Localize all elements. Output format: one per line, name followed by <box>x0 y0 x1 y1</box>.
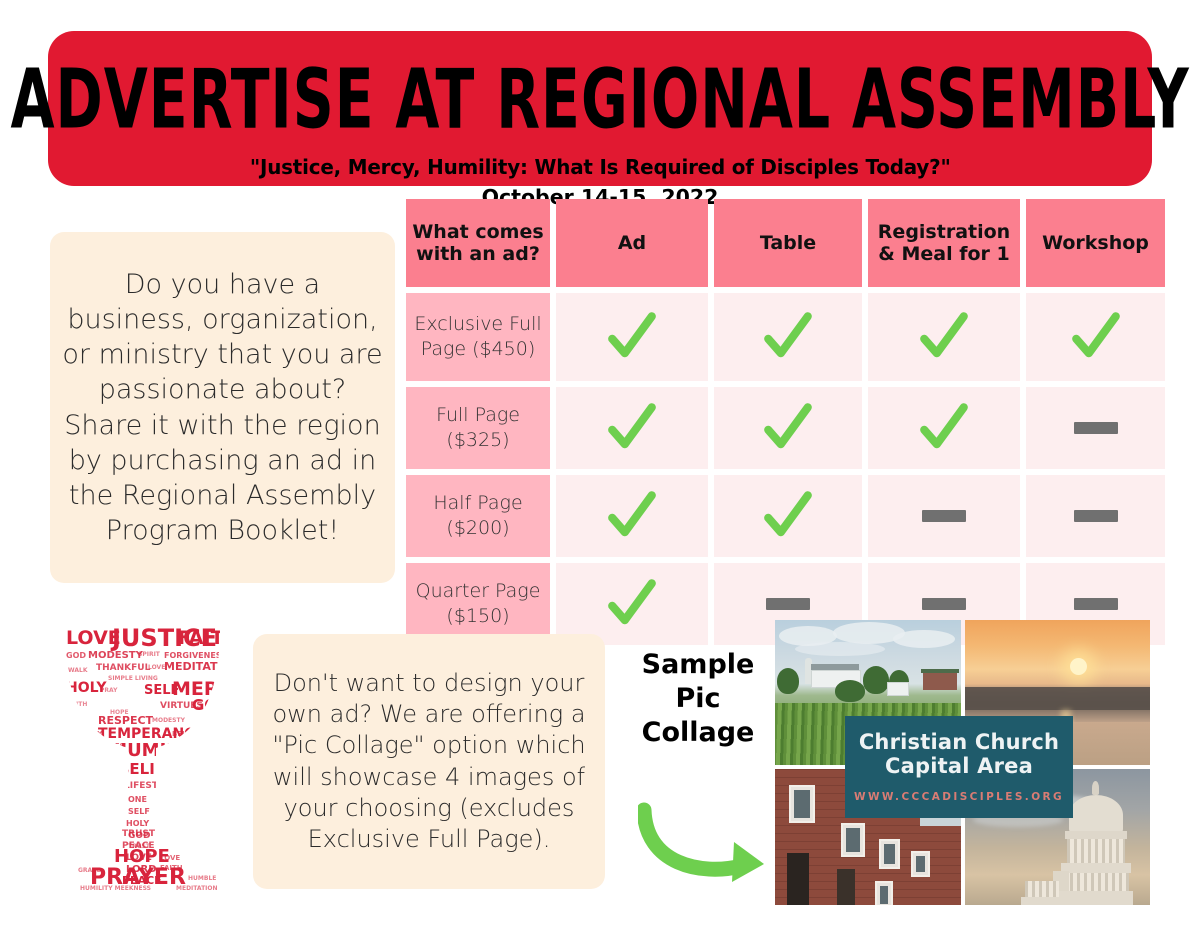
svg-text:MODESTY: MODESTY <box>152 717 186 724</box>
check-icon <box>761 489 815 543</box>
dash-icon <box>922 510 966 522</box>
svg-text:SELF: SELF <box>128 807 150 816</box>
dash-icon <box>922 598 966 610</box>
table-cell-exclusive-ad <box>556 293 708 381</box>
sample-pic-collage-label: Sample Pic Collage <box>628 648 768 750</box>
svg-text:THANKFUL: THANKFUL <box>96 663 151 673</box>
table-cell-exclusive-registration <box>868 293 1020 381</box>
poster-canvas: ADVERTISE AT REGIONAL ASSEMBLY "Justice,… <box>0 0 1200 927</box>
sample-label-line1: Sample <box>628 648 768 682</box>
svg-text:KINDNESS: KINDNESS <box>192 740 232 748</box>
svg-text:WALK: WALK <box>88 762 111 770</box>
table-header-registration-meal: Registration & Meal for 1 <box>868 199 1020 287</box>
svg-text:CCCA: CCCA <box>188 747 215 757</box>
curved-arrow-icon <box>638 780 773 885</box>
svg-text:MEDITATION: MEDITATION <box>176 885 218 892</box>
svg-text:BELIEVE: BELIEVE <box>118 760 187 778</box>
svg-text:HUMILITY: HUMILITY <box>112 740 211 761</box>
svg-text:BELIEVE: BELIEVE <box>172 730 204 738</box>
svg-text:PRAY: PRAY <box>100 687 118 694</box>
pic-collage-note-text: Don't want to design your own ad? We are… <box>265 668 593 855</box>
check-icon <box>761 401 815 455</box>
svg-text:FAITH: FAITH <box>68 701 87 708</box>
check-icon <box>605 310 659 364</box>
check-icon <box>1069 310 1123 364</box>
table-cell-half-ad <box>556 475 708 557</box>
dash-icon <box>1074 510 1118 522</box>
svg-text:GOD: GOD <box>192 696 230 714</box>
table-row-label-quarter-page: Quarter Page ($150) <box>406 563 550 645</box>
check-icon <box>605 489 659 543</box>
dash-icon <box>766 598 810 610</box>
table-header-workshop: Workshop <box>1026 199 1165 287</box>
chalice-icon: LOVE JUSTICE FAITH GOD MODESTY SPIRIT FO… <box>52 622 232 894</box>
check-icon <box>761 310 815 364</box>
sample-collage-image: Christian Church Capital Area WWW.CCCADI… <box>775 620 1150 905</box>
table-cell-full-table <box>714 387 862 469</box>
table-row-label-half-page: Half Page ($200) <box>406 475 550 557</box>
svg-text:HOLY: HOLY <box>126 819 149 828</box>
table-cell-full-ad <box>556 387 708 469</box>
banner-subtitle: "Justice, Mercy, Humility: What Is Requi… <box>250 155 951 179</box>
svg-text:GRACE: GRACE <box>78 867 101 874</box>
svg-text:ONE: ONE <box>128 795 147 804</box>
svg-text:MEDITATION: MEDITATION <box>164 660 232 673</box>
svg-text:GOD: GOD <box>66 651 86 660</box>
chalice-wordcloud-image: LOVE JUSTICE FAITH GOD MODESTY SPIRIT FO… <box>52 622 232 894</box>
svg-text:LOVE: LOVE <box>148 664 165 671</box>
intro-text: Do you have a business, organization, or… <box>60 267 385 548</box>
header-banner: ADVERTISE AT REGIONAL ASSEMBLY "Justice,… <box>48 31 1152 186</box>
table-cell-quarter-ad <box>556 563 708 645</box>
svg-text:LORD: LORD <box>212 683 230 690</box>
table-cell-exclusive-workshop <box>1026 293 1165 381</box>
collage-overlay-card: Christian Church Capital Area WWW.CCCADI… <box>845 716 1073 818</box>
table-header-what-comes-with-an-ad: What comes with an ad? <box>406 199 550 287</box>
svg-text:WALK: WALK <box>68 667 88 674</box>
svg-text:MERCY: MERCY <box>186 764 214 772</box>
svg-text:HUMBLE: HUMBLE <box>188 875 216 882</box>
table-cell-full-registration <box>868 387 1020 469</box>
svg-text:FAITH: FAITH <box>178 627 232 649</box>
collage-card-title-line1: Christian Church <box>859 731 1059 755</box>
table-header-table: Table <box>714 199 862 287</box>
table-row-label-full-page: Full Page ($325) <box>406 387 550 469</box>
sample-label-line2: Pic <box>628 682 768 716</box>
svg-text:PEACE: PEACE <box>122 841 154 851</box>
svg-text:SPIRIT: SPIRIT <box>138 651 161 658</box>
check-icon <box>917 401 971 455</box>
table-cell-half-workshop <box>1026 475 1165 557</box>
intro-callout-box: Do you have a business, organization, or… <box>50 232 395 583</box>
dash-icon <box>1074 422 1118 434</box>
page-title: ADVERTISE AT REGIONAL ASSEMBLY <box>10 59 1189 141</box>
svg-text:LIFESTYLE: LIFESTYLE <box>124 781 176 791</box>
table-row-label-exclusive-full-page: Exclusive Full Page ($450) <box>406 293 550 381</box>
dash-icon <box>1074 598 1118 610</box>
svg-text:HUMILITY MEEKNESS: HUMILITY MEEKNESS <box>80 885 151 892</box>
svg-text:TRUST: TRUST <box>122 829 156 839</box>
table-header-ad: Ad <box>556 199 708 287</box>
svg-text:MODESTY: MODESTY <box>88 650 144 661</box>
table-cell-half-table <box>714 475 862 557</box>
table-cell-exclusive-table <box>714 293 862 381</box>
sample-label-line3: Collage <box>628 716 768 750</box>
check-icon <box>917 310 971 364</box>
collage-card-title-line2: Capital Area <box>885 755 1033 779</box>
check-icon <box>605 577 659 631</box>
table-cell-full-workshop <box>1026 387 1165 469</box>
svg-text:SIMPLE LIVING: SIMPLE LIVING <box>108 675 158 682</box>
svg-text:LOVE: LOVE <box>160 854 180 862</box>
ad-tier-comparison-table: What comes with an ad? Ad Table Registra… <box>406 199 1151 645</box>
collage-card-url: WWW.CCCADISCIPLES.ORG <box>854 791 1064 803</box>
check-icon <box>605 401 659 455</box>
pic-collage-note-box: Don't want to design your own ad? We are… <box>253 634 605 889</box>
svg-text:FORGIVENESS: FORGIVENESS <box>164 651 227 660</box>
table-cell-half-registration <box>868 475 1020 557</box>
curved-arrow-icon-wrapper <box>638 780 773 885</box>
